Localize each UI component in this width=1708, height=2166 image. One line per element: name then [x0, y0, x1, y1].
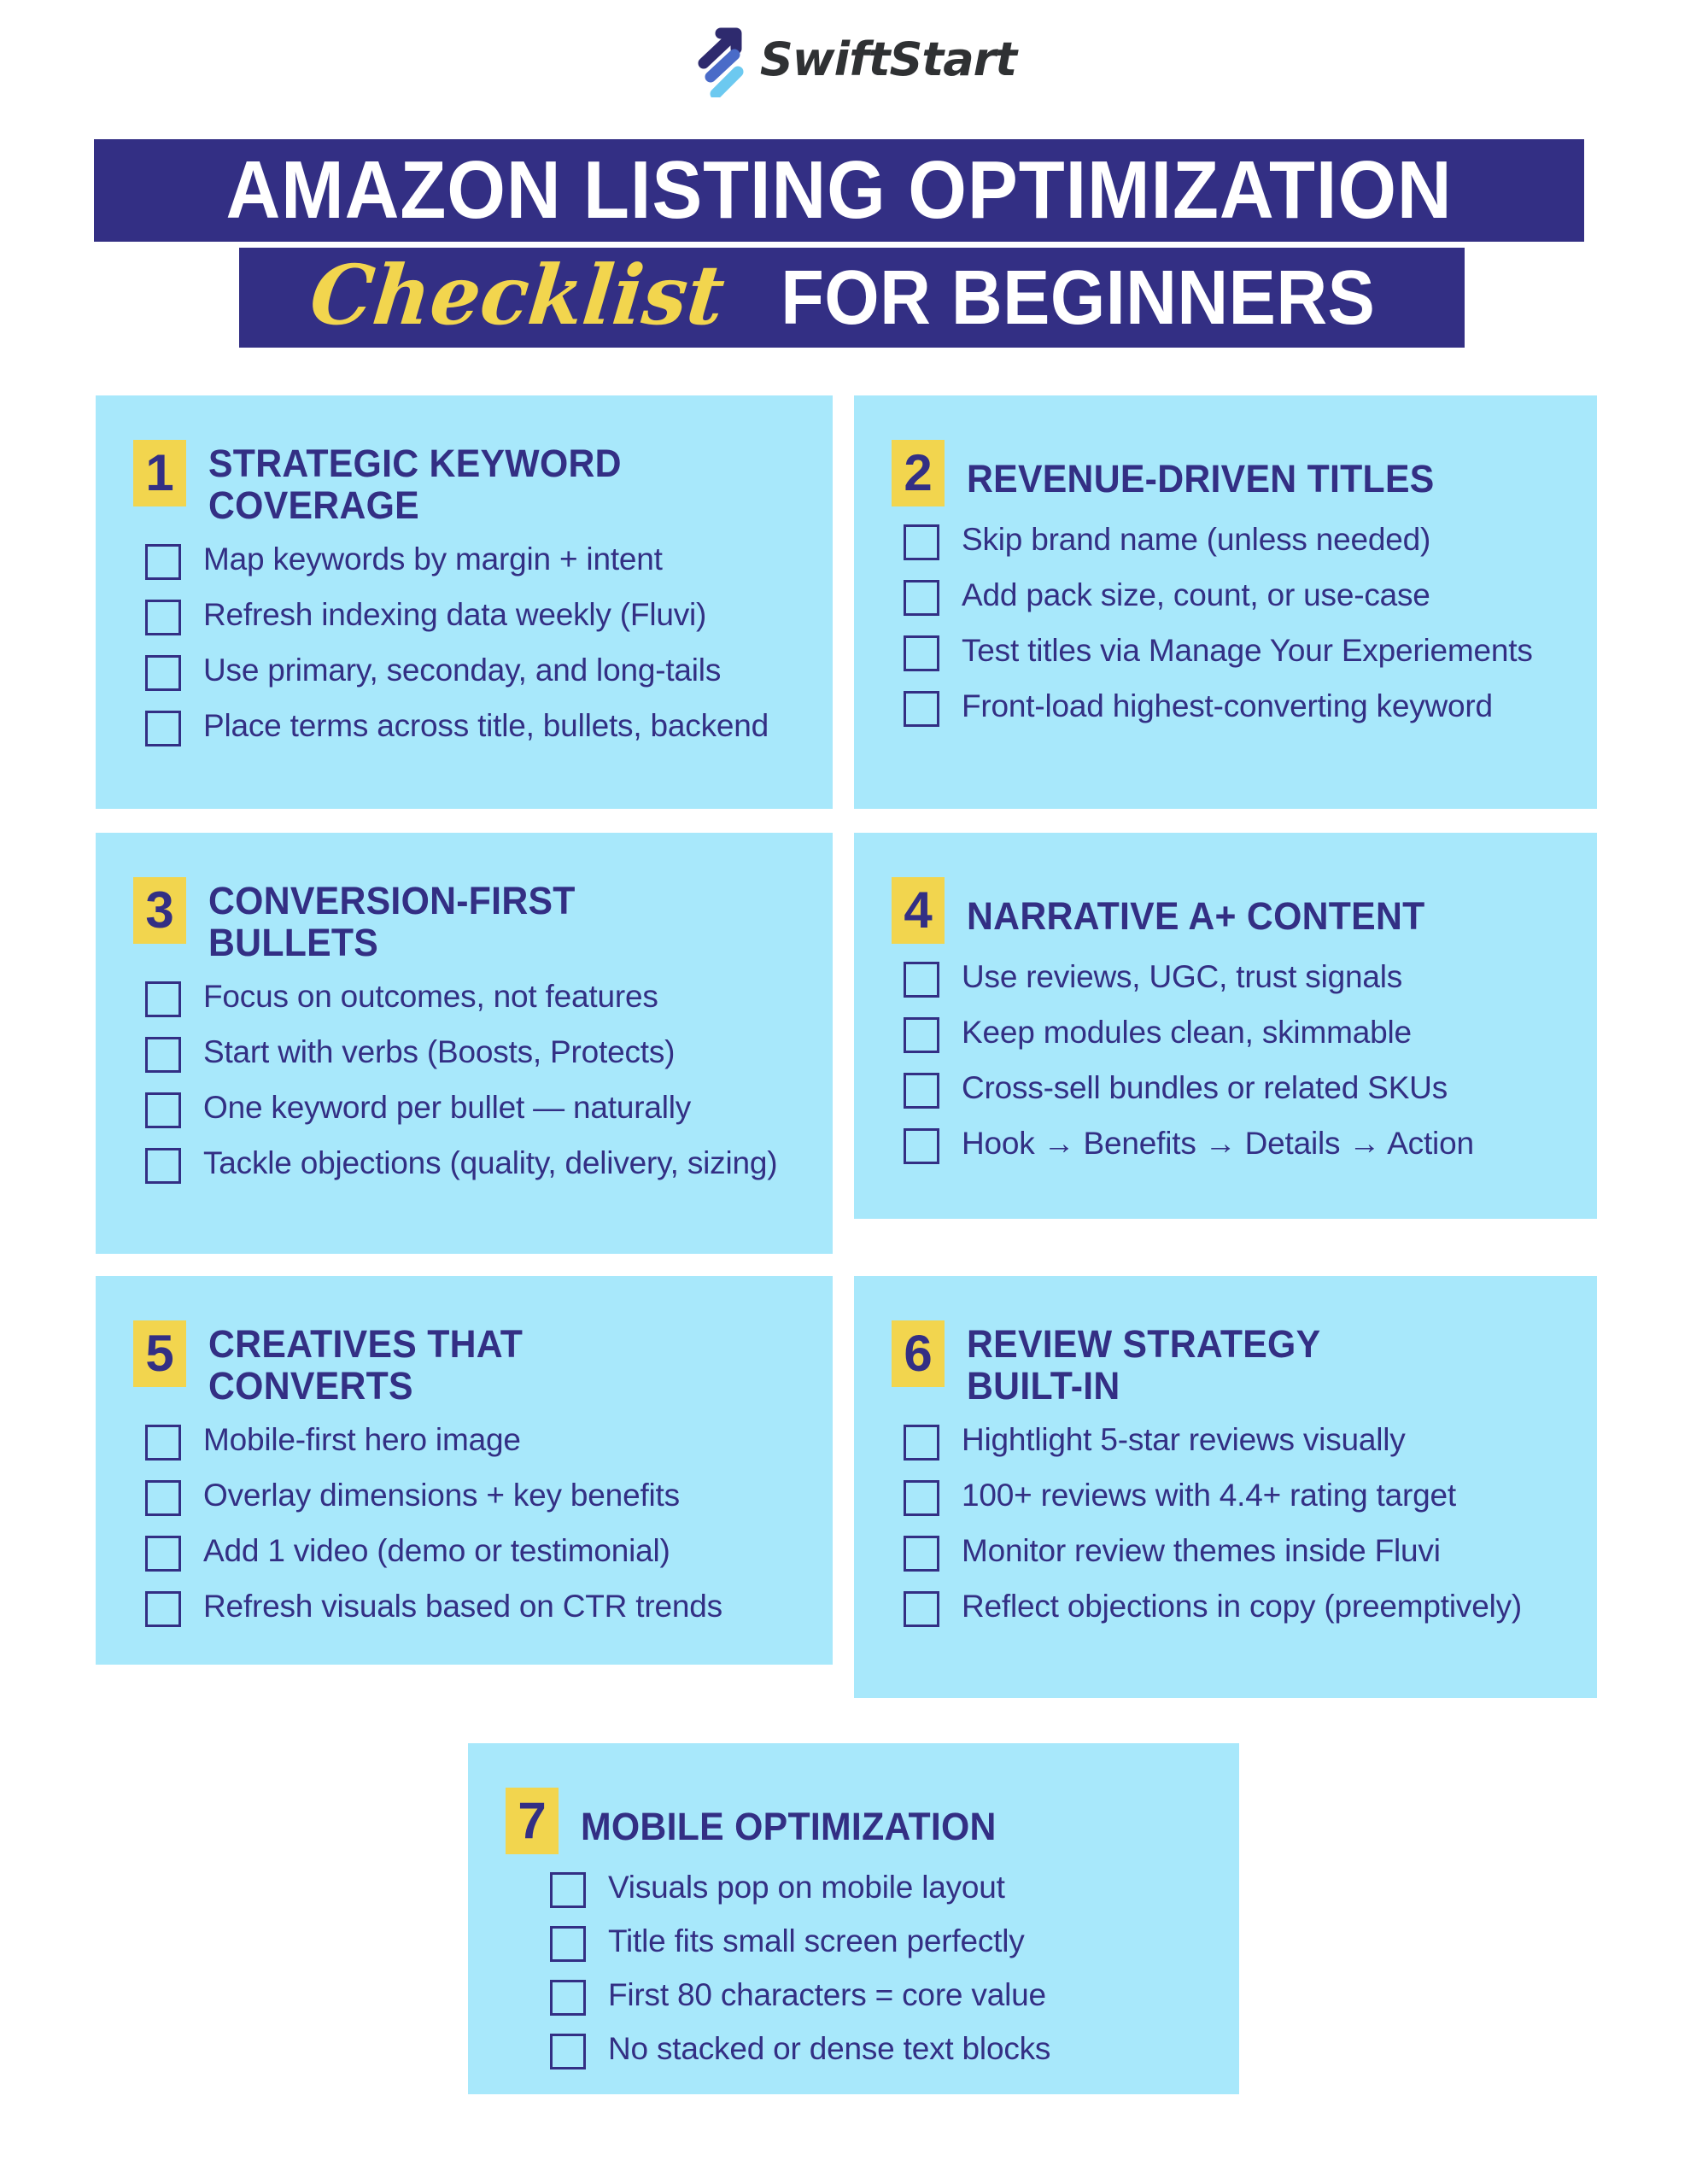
- checklist-item[interactable]: Title fits small screen perfectly: [550, 1922, 1202, 1962]
- title-line-2: FOR BEGINNERS: [781, 260, 1375, 337]
- checkbox-icon[interactable]: [145, 544, 181, 580]
- checkbox-icon[interactable]: [550, 1926, 586, 1962]
- checkbox-icon[interactable]: [145, 1480, 181, 1516]
- checklist-item[interactable]: Focus on outcomes, not features: [145, 977, 795, 1017]
- checklist-item-label: Refresh visuals based on CTR trends: [203, 1587, 722, 1625]
- checklist-item-label: Use primary, seconday, and long-tails: [203, 651, 721, 689]
- checkbox-icon[interactable]: [550, 1872, 586, 1908]
- checkbox-icon[interactable]: [904, 1480, 939, 1516]
- checklist-infographic: SwiftStart AMAZON LISTING OPTIMIZATION C…: [0, 0, 1708, 2166]
- checklist-item[interactable]: Refresh visuals based on CTR trends: [145, 1587, 795, 1627]
- checkbox-icon[interactable]: [145, 1536, 181, 1572]
- checklist-items: Skip brand name (unless needed) Add pack…: [892, 520, 1559, 727]
- brand-logo: SwiftStart: [0, 22, 1708, 97]
- checklist-item[interactable]: Skip brand name (unless needed): [904, 520, 1559, 560]
- checkbox-icon[interactable]: [145, 1148, 181, 1184]
- checklist-item-label: Refresh indexing data weekly (Fluvi): [203, 595, 706, 634]
- checklist-item-label: Keep modules clean, skimmable: [962, 1013, 1412, 1051]
- checklist-item-label: Use reviews, UGC, trust signals: [962, 957, 1402, 996]
- checklist-item-label: One keyword per bullet — naturally: [203, 1088, 691, 1127]
- checklist-item-label: Add 1 video (demo or testimonial): [203, 1531, 670, 1570]
- checklist-card-4: 4 NARRATIVE A+ CONTENT Use reviews, UGC,…: [854, 833, 1597, 1219]
- card-header: 2 REVENUE-DRIVEN TITLES: [892, 440, 1559, 506]
- checklist-item-label: Hook → Benefits → Details → Action: [962, 1124, 1474, 1162]
- checklist-item[interactable]: Place terms across title, bullets, backe…: [145, 706, 795, 746]
- card-title: NARRATIVE A+ CONTENT: [967, 877, 1425, 938]
- checkbox-icon[interactable]: [550, 1980, 586, 2016]
- checklist-item[interactable]: Add pack size, count, or use-case: [904, 576, 1559, 616]
- checklist-item-label: Reflect objections in copy (preemptively…: [962, 1587, 1522, 1625]
- checkbox-icon[interactable]: [145, 1037, 181, 1073]
- checkbox-icon[interactable]: [145, 655, 181, 691]
- checklist-card-7: 7 MOBILE OPTIMIZATION Visuals pop on mob…: [468, 1743, 1239, 2094]
- checklist-items: Visuals pop on mobile layout Title fits …: [506, 1868, 1202, 2069]
- card-header: 3 CONVERSION-FIRST BULLETS: [133, 877, 795, 963]
- checkbox-icon[interactable]: [904, 1017, 939, 1053]
- checklist-card-6: 6 REVIEW STRATEGY BUILT-IN Hightlight 5-…: [854, 1276, 1597, 1698]
- checklist-item-label: Test titles via Manage Your Experiements: [962, 631, 1533, 670]
- checkbox-icon[interactable]: [145, 1425, 181, 1461]
- card-number-badge: 3: [133, 877, 186, 944]
- card-number-badge: 2: [892, 440, 945, 506]
- checkbox-icon[interactable]: [904, 1536, 939, 1572]
- checkbox-icon[interactable]: [904, 635, 939, 671]
- checklist-item-label: Hightlight 5-star reviews visually: [962, 1420, 1406, 1459]
- checklist-item-label: Cross-sell bundles or related SKUs: [962, 1068, 1448, 1107]
- checklist-card-5: 5 CREATIVES THAT CONVERTS Mobile-first h…: [96, 1276, 833, 1665]
- title-banner-primary: AMAZON LISTING OPTIMIZATION: [94, 139, 1584, 242]
- checklist-item[interactable]: Test titles via Manage Your Experiements: [904, 631, 1559, 671]
- checkbox-icon[interactable]: [550, 2034, 586, 2069]
- card-number-badge: 1: [133, 440, 186, 506]
- checklist-item-label: First 80 characters = core value: [608, 1976, 1046, 2014]
- card-title: STRATEGIC KEYWORD COVERAGE: [208, 440, 622, 526]
- checklist-item[interactable]: Hook → Benefits → Details → Action: [904, 1124, 1559, 1164]
- checklist-item[interactable]: Reflect objections in copy (preemptively…: [904, 1587, 1559, 1627]
- checkbox-icon[interactable]: [145, 711, 181, 746]
- checklist-item[interactable]: First 80 characters = core value: [550, 1976, 1202, 2016]
- card-title: REVIEW STRATEGY BUILT-IN: [967, 1320, 1320, 1407]
- checkbox-icon[interactable]: [145, 1092, 181, 1128]
- checklist-item-label: Title fits small screen perfectly: [608, 1922, 1025, 1960]
- checklist-item-label: No stacked or dense text blocks: [608, 2029, 1050, 2068]
- checklist-item[interactable]: Add 1 video (demo or testimonial): [145, 1531, 795, 1572]
- checklist-items: Map keywords by margin + intent Refresh …: [133, 540, 795, 746]
- checklist-item[interactable]: No stacked or dense text blocks: [550, 2029, 1202, 2069]
- checklist-items: Hightlight 5-star reviews visually 100+ …: [892, 1420, 1559, 1627]
- checklist-item[interactable]: Refresh indexing data weekly (Fluvi): [145, 595, 795, 635]
- card-title: MOBILE OPTIMIZATION: [581, 1788, 997, 1848]
- checkbox-icon[interactable]: [904, 962, 939, 998]
- card-header: 5 CREATIVES THAT CONVERTS: [133, 1320, 795, 1407]
- checklist-items: Focus on outcomes, not features Start wi…: [133, 977, 795, 1184]
- checklist-items: Mobile-first hero image Overlay dimensio…: [133, 1420, 795, 1627]
- card-title: CREATIVES THAT CONVERTS: [208, 1320, 523, 1407]
- checklist-item[interactable]: Mobile-first hero image: [145, 1420, 795, 1461]
- checkbox-icon[interactable]: [145, 1591, 181, 1627]
- checklist-item[interactable]: Front-load highest-converting keyword: [904, 687, 1559, 727]
- checklist-item-label: Start with verbs (Boosts, Protects): [203, 1033, 675, 1071]
- checklist-card-1: 1 STRATEGIC KEYWORD COVERAGE Map keyword…: [96, 395, 833, 809]
- checklist-item[interactable]: Map keywords by margin + intent: [145, 540, 795, 580]
- checkbox-icon[interactable]: [145, 600, 181, 635]
- checklist-item[interactable]: Visuals pop on mobile layout: [550, 1868, 1202, 1908]
- checklist-item[interactable]: Cross-sell bundles or related SKUs: [904, 1068, 1559, 1109]
- checklist-item-label: Map keywords by margin + intent: [203, 540, 663, 578]
- brand-name: SwiftStart: [760, 37, 1016, 83]
- checklist-item-label: Tackle objections (quality, delivery, si…: [203, 1144, 777, 1182]
- checkbox-icon[interactable]: [904, 524, 939, 560]
- checklist-item-label: 100+ reviews with 4.4+ rating target: [962, 1476, 1456, 1514]
- checklist-item[interactable]: Tackle objections (quality, delivery, si…: [145, 1144, 795, 1184]
- card-number-badge: 5: [133, 1320, 186, 1387]
- checklist-item[interactable]: One keyword per bullet — naturally: [145, 1088, 795, 1128]
- checklist-card-2: 2 REVENUE-DRIVEN TITLES Skip brand name …: [854, 395, 1597, 809]
- checklist-item[interactable]: Overlay dimensions + key benefits: [145, 1476, 795, 1516]
- checkbox-icon[interactable]: [904, 580, 939, 616]
- checklist-item-label: Visuals pop on mobile layout: [608, 1868, 1005, 1906]
- checkbox-icon[interactable]: [904, 1591, 939, 1627]
- checklist-item[interactable]: Hightlight 5-star reviews visually: [904, 1420, 1559, 1461]
- checklist-item-label: Place terms across title, bullets, backe…: [203, 706, 769, 745]
- checklist-card-3: 3 CONVERSION-FIRST BULLETS Focus on outc…: [96, 833, 833, 1254]
- checklist-item[interactable]: 100+ reviews with 4.4+ rating target: [904, 1476, 1559, 1516]
- title-banner-secondary: Checklist FOR BEGINNERS: [239, 248, 1465, 348]
- checklist-item[interactable]: Use reviews, UGC, trust signals: [904, 957, 1559, 998]
- checkbox-icon[interactable]: [904, 1128, 939, 1164]
- checklist-item-label: Monitor review themes inside Fluvi: [962, 1531, 1441, 1570]
- card-header: 4 NARRATIVE A+ CONTENT: [892, 877, 1559, 944]
- checklist-item-label: Focus on outcomes, not features: [203, 977, 658, 1016]
- checklist-item-label: Overlay dimensions + key benefits: [203, 1476, 680, 1514]
- checkbox-icon[interactable]: [904, 1425, 939, 1461]
- checklist-item-label: Mobile-first hero image: [203, 1420, 521, 1459]
- checklist-item[interactable]: Use primary, seconday, and long-tails: [145, 651, 795, 691]
- checklist-item[interactable]: Keep modules clean, skimmable: [904, 1013, 1559, 1053]
- checklist-item[interactable]: Monitor review themes inside Fluvi: [904, 1531, 1559, 1572]
- checklist-item[interactable]: Start with verbs (Boosts, Protects): [145, 1033, 795, 1073]
- card-title: CONVERSION-FIRST BULLETS: [208, 877, 576, 963]
- card-header: 7 MOBILE OPTIMIZATION: [506, 1788, 1202, 1854]
- card-header: 6 REVIEW STRATEGY BUILT-IN: [892, 1320, 1559, 1407]
- card-number-badge: 4: [892, 877, 945, 944]
- card-header: 1 STRATEGIC KEYWORD COVERAGE: [133, 440, 795, 526]
- checklist-item-label: Front-load highest-converting keyword: [962, 687, 1493, 725]
- checkbox-icon[interactable]: [904, 1073, 939, 1109]
- checklist-items: Use reviews, UGC, trust signals Keep mod…: [892, 957, 1559, 1164]
- checkbox-icon[interactable]: [904, 691, 939, 727]
- upward-arrow-icon: [692, 22, 746, 97]
- title-line-1: AMAZON LISTING OPTIMIZATION: [225, 149, 1452, 231]
- title-script-word: Checklist: [307, 255, 728, 337]
- card-number-badge: 7: [506, 1788, 559, 1854]
- checklist-item-label: Skip brand name (unless needed): [962, 520, 1430, 559]
- card-number-badge: 6: [892, 1320, 945, 1387]
- checkbox-icon[interactable]: [145, 981, 181, 1017]
- checklist-item-label: Add pack size, count, or use-case: [962, 576, 1430, 614]
- card-title: REVENUE-DRIVEN TITLES: [967, 440, 1435, 501]
